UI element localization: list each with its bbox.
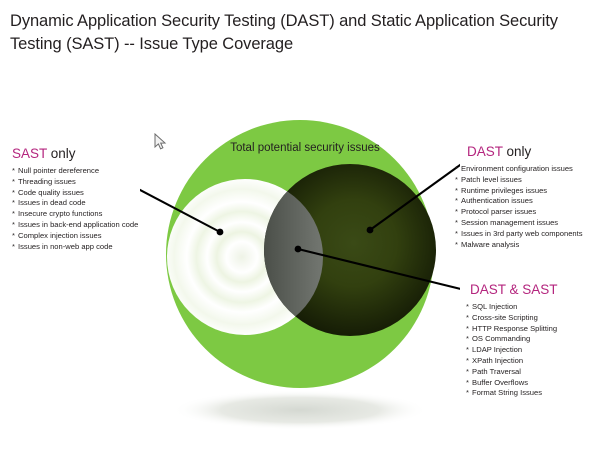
- list-item: *Format String Issues: [466, 388, 558, 399]
- list-item-label: Threading issues: [18, 177, 76, 186]
- list-item: *Malware analysis: [455, 240, 583, 251]
- list-item: *Insecure crypto functions: [12, 209, 138, 220]
- list-item-label: Format String Issues: [472, 388, 542, 397]
- callout-sast-only-keyword: SAST: [12, 146, 47, 161]
- callout-dast-only-heading: DAST only: [467, 144, 583, 160]
- list-item: *Environment configuration issues: [455, 164, 583, 175]
- callout-dast-and-sast-heading: DAST & SAST: [470, 282, 558, 298]
- list-item-label: Complex injection issues: [18, 231, 102, 240]
- venn-center-label: Total potential security issues: [215, 142, 395, 154]
- list-item-label: Issues in dead code: [18, 198, 86, 207]
- list-item: *Complex injection issues: [12, 231, 138, 242]
- list-item: *Runtime privileges issues: [455, 186, 583, 197]
- callout-dast-and-sast: DAST & SAST *SQL Injection *Cross-site S…: [466, 282, 558, 399]
- list-item: *Buffer Overflows: [466, 378, 558, 389]
- list-item-label: Patch level issues: [461, 175, 522, 184]
- list-item: *Patch level issues: [455, 175, 583, 186]
- list-item-label: Path Traversal: [472, 367, 521, 376]
- list-item-label: Issues in back-end application code: [18, 220, 138, 229]
- callout-dast-and-sast-keyword: DAST & SAST: [470, 282, 558, 297]
- list-item: *Issues in dead code: [12, 198, 138, 209]
- list-item: *Authentication issues: [455, 196, 583, 207]
- list-item-label: LDAP Injection: [472, 345, 522, 354]
- callout-sast-only-suffix: only: [47, 146, 76, 161]
- list-item: *Issues in non-web app code: [12, 242, 138, 253]
- list-item: *Code quality issues: [12, 188, 138, 199]
- callout-dast-only-keyword: DAST: [467, 144, 503, 159]
- callout-dast-only: DAST only *Environment configuration iss…: [455, 144, 583, 250]
- list-item-label: XPath Injection: [472, 356, 523, 365]
- list-item: *SQL Injection: [466, 302, 558, 313]
- list-item: *Threading issues: [12, 177, 138, 188]
- diagram-shadow: [172, 390, 428, 430]
- list-item-label: Issues in non-web app code: [18, 242, 113, 251]
- callout-sast-only-list: *Null pointer dereference *Threading iss…: [12, 166, 138, 252]
- list-item: *Issues in 3rd party web components: [455, 229, 583, 240]
- list-item: *XPath Injection: [466, 356, 558, 367]
- list-item-label: Buffer Overflows: [472, 378, 528, 387]
- list-item-label: Malware analysis: [461, 240, 519, 249]
- list-item: *Null pointer dereference: [12, 166, 138, 177]
- list-item-label: Null pointer dereference: [18, 166, 99, 175]
- callout-dast-and-sast-list: *SQL Injection *Cross-site Scripting *HT…: [466, 302, 558, 399]
- callout-sast-only: SAST only *Null pointer dereference *Thr…: [12, 146, 138, 252]
- list-item-label: Session management issues: [461, 218, 558, 227]
- list-item: *Issues in back-end application code: [12, 220, 138, 231]
- page-title: Dynamic Application Security Testing (DA…: [10, 10, 590, 56]
- callout-dast-only-suffix: only: [503, 144, 532, 159]
- list-item-label: Issues in 3rd party web components: [461, 229, 583, 238]
- list-item: *Protocol parser issues: [455, 207, 583, 218]
- list-item-label: SQL Injection: [472, 302, 517, 311]
- list-item-label: Insecure crypto functions: [18, 209, 102, 218]
- list-item: *Cross-site Scripting: [466, 313, 558, 324]
- list-item-label: Authentication issues: [461, 196, 533, 205]
- list-item-label: Cross-site Scripting: [472, 313, 538, 322]
- list-item: *HTTP Response Splitting: [466, 324, 558, 335]
- list-item-label: HTTP Response Splitting: [472, 324, 557, 333]
- list-item-label: Code quality issues: [18, 188, 84, 197]
- list-item: *LDAP Injection: [466, 345, 558, 356]
- callout-sast-only-heading: SAST only: [12, 146, 138, 162]
- list-item: *Session management issues: [455, 218, 583, 229]
- list-item-label: Protocol parser issues: [461, 207, 536, 216]
- list-item-label: Environment configuration issues: [461, 164, 573, 173]
- list-item: *OS Commanding: [466, 334, 558, 345]
- list-item-label: OS Commanding: [472, 334, 530, 343]
- slide-canvas: Dynamic Application Security Testing (DA…: [0, 0, 600, 450]
- callout-dast-only-list: *Environment configuration issues *Patch…: [455, 164, 583, 250]
- list-item: *Path Traversal: [466, 367, 558, 378]
- mouse-pointer-icon: [154, 133, 168, 151]
- list-item-label: Runtime privileges issues: [461, 186, 547, 195]
